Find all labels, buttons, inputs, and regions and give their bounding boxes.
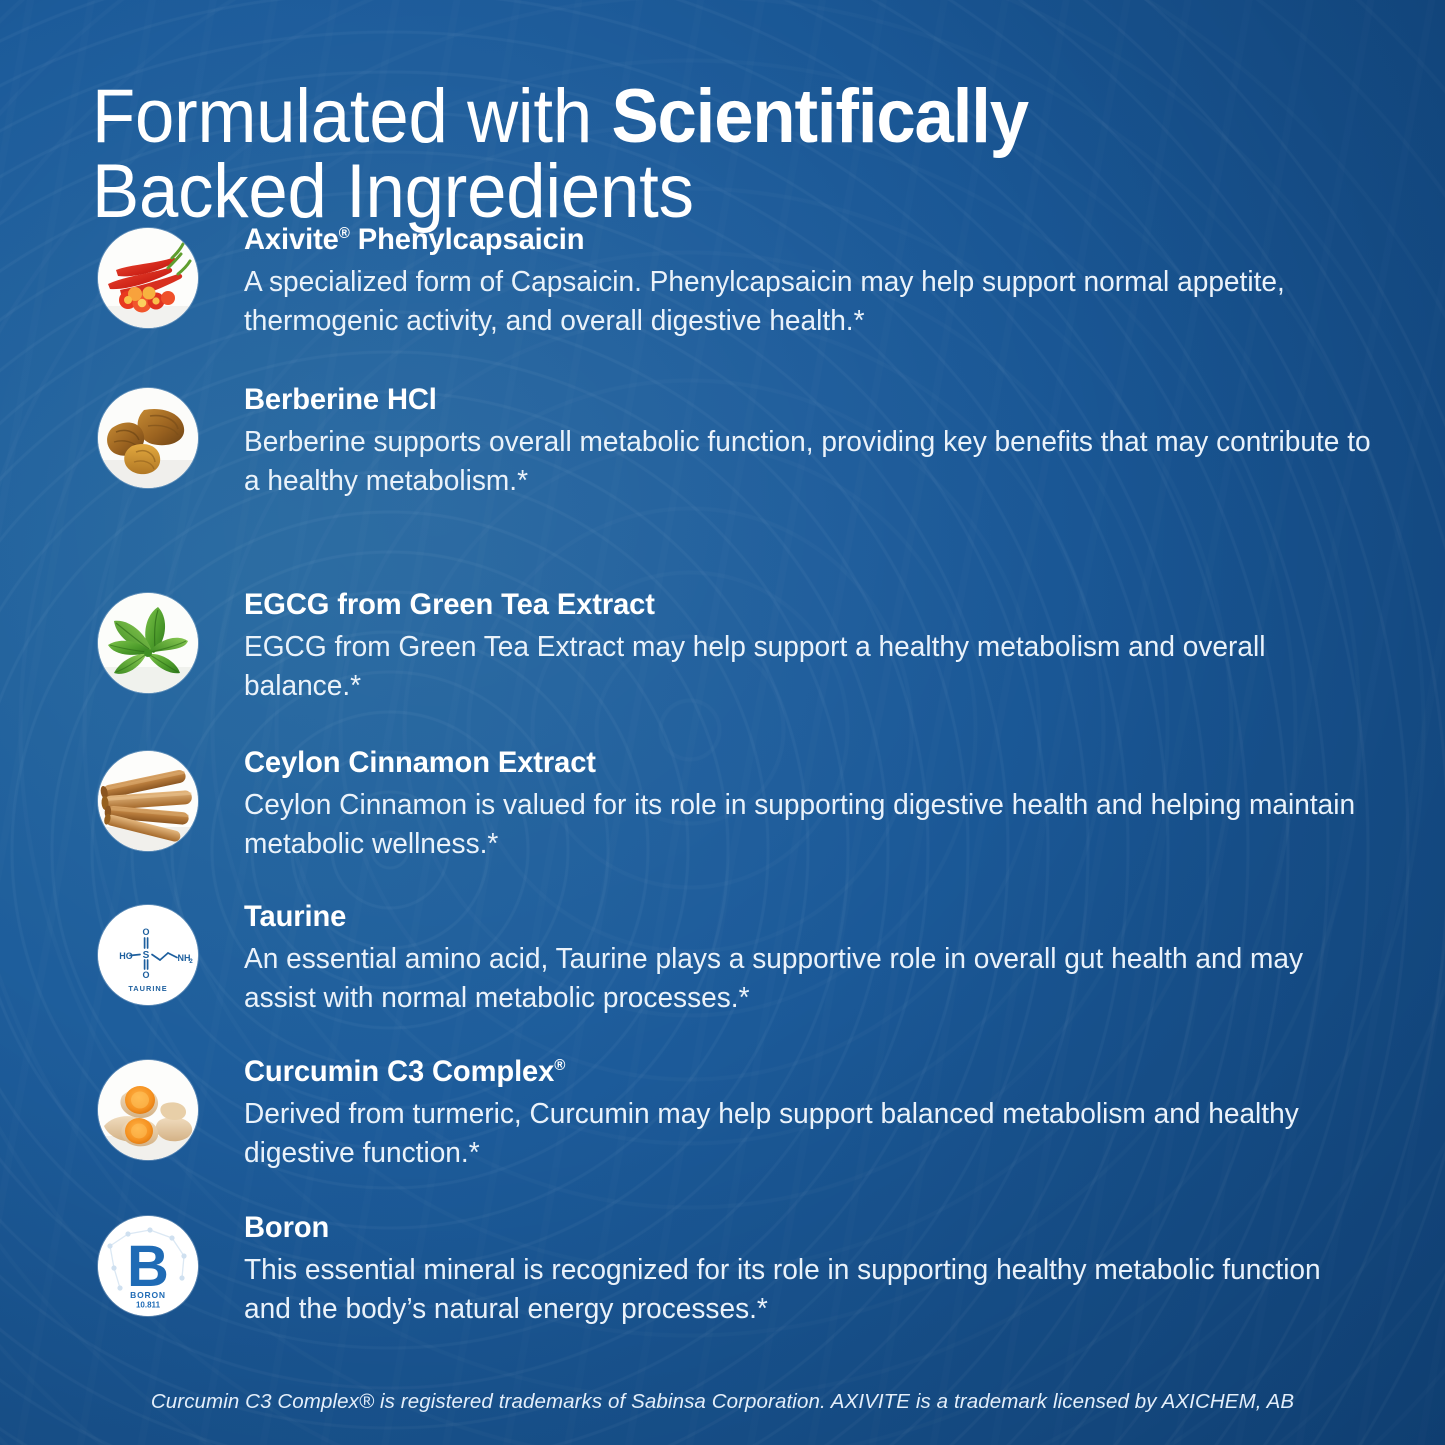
ingredient-description: A specialized form of Capsaicin. Phenylc… <box>244 263 1371 342</box>
taurine-caption: TAURINE <box>128 984 167 993</box>
berberine-root-icon <box>98 388 198 488</box>
ingredient-description: Derived from turmeric, Curcumin may help… <box>244 1095 1371 1174</box>
ingredient-title-main: EGCG from Green Tea Extract <box>244 588 655 621</box>
list-item: B BORON 10.811 Boron This essential mine… <box>98 1216 1388 1329</box>
ingredient-title-main: Taurine <box>244 900 346 933</box>
ingredient-description: Ceylon Cinnamon is valued for its role i… <box>244 786 1371 865</box>
registered-trademark-icon: ® <box>554 1057 565 1074</box>
turmeric-root-icon <box>98 1060 198 1160</box>
page-title-line2: Backed Ingredients <box>92 149 694 234</box>
ingredient-title-main: Berberine HCl <box>244 383 437 416</box>
ingredient-infographic: Formulated with Scientifically Backed In… <box>0 0 1445 1445</box>
ingredient-title-rest: Phenylcapsaicin <box>350 223 585 256</box>
page-title: Formulated with Scientifically Backed In… <box>92 79 1264 229</box>
ingredient-title: Axivite® Phenylcapsaicin <box>244 224 1354 256</box>
list-item: Berberine HCl Berberine supports overall… <box>98 388 1388 501</box>
page-title-line1-bold: Scientifically <box>611 74 1028 159</box>
list-item: S O O HO NH 2 TAURINE Taurine An essenti… <box>98 905 1388 1018</box>
taurine-molecule-icon: S O O HO NH 2 TAURINE <box>98 905 198 1005</box>
ingredient-title-main: Axivite <box>244 223 339 256</box>
boron-mass-label: 10.811 <box>136 1301 161 1310</box>
list-item: Axivite® Phenylcapsaicin A specialized f… <box>98 228 1388 341</box>
boron-name-label: BORON <box>130 1290 166 1300</box>
taurine-s-label: S <box>143 950 150 961</box>
green-tea-leaves-icon <box>98 593 198 693</box>
taurine-o-top-label: O <box>142 927 149 937</box>
ingredient-title: Berberine HCl <box>244 384 1354 416</box>
boron-element-icon: B BORON 10.811 <box>98 1216 198 1316</box>
page-title-line1-light: Formulated with <box>92 74 611 159</box>
chili-peppers-icon <box>98 228 198 328</box>
ingredient-title: Boron <box>244 1212 1354 1244</box>
ingredient-title-main: Curcumin C3 Complex <box>244 1055 554 1088</box>
ingredient-title: EGCG from Green Tea Extract <box>244 589 1354 621</box>
list-item: Ceylon Cinnamon Extract Ceylon Cinnamon … <box>98 751 1388 864</box>
ingredient-title: Taurine <box>244 901 1354 933</box>
list-item: EGCG from Green Tea Extract EGCG from Gr… <box>98 593 1388 706</box>
ingredient-description: This essential mineral is recognized for… <box>244 1251 1371 1330</box>
ingredient-title-main: Ceylon Cinnamon Extract <box>244 746 596 779</box>
ingredient-description: Berberine supports overall metabolic fun… <box>244 423 1371 502</box>
ingredient-title-main: Boron <box>244 1211 329 1244</box>
ingredient-description: EGCG from Green Tea Extract may help sup… <box>244 628 1371 707</box>
trademark-footnote: Curcumin C3 Complex® is registered trade… <box>0 1390 1445 1414</box>
cinnamon-sticks-icon <box>98 751 198 851</box>
ingredient-title: Curcumin C3 Complex® <box>244 1056 1354 1088</box>
registered-trademark-icon: ® <box>339 225 350 242</box>
taurine-ho-label: HO <box>119 951 133 961</box>
list-item: Curcumin C3 Complex® Derived from turmer… <box>98 1060 1388 1173</box>
ingredient-description: An essential amino acid, Taurine plays a… <box>244 940 1371 1019</box>
ingredient-title: Ceylon Cinnamon Extract <box>244 747 1354 779</box>
taurine-o-bottom-label: O <box>142 970 149 980</box>
